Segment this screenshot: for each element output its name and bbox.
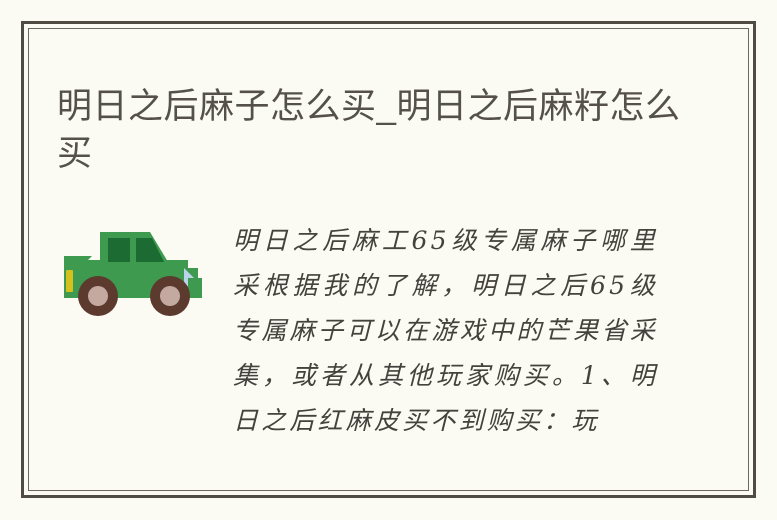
article-body-section: 明日之后麻工65级专属麻子哪里采根据我的了解，明日之后65级专属麻子可以在游戏中… (28, 188, 749, 478)
page-title: 明日之后麻子怎么买_明日之后麻籽怎么买 (57, 83, 682, 177)
green-pickup-truck-icon (58, 206, 218, 326)
article-content: 明日之后麻子怎么买_明日之后麻籽怎么买 (28, 28, 749, 491)
article-body-text: 明日之后麻工65级专属麻子哪里采根据我的了解，明日之后65级专属麻子可以在游戏中… (233, 218, 658, 443)
truck-illustration (58, 206, 218, 326)
article-page: 明日之后麻子怎么买_明日之后麻籽怎么买 (0, 0, 777, 520)
